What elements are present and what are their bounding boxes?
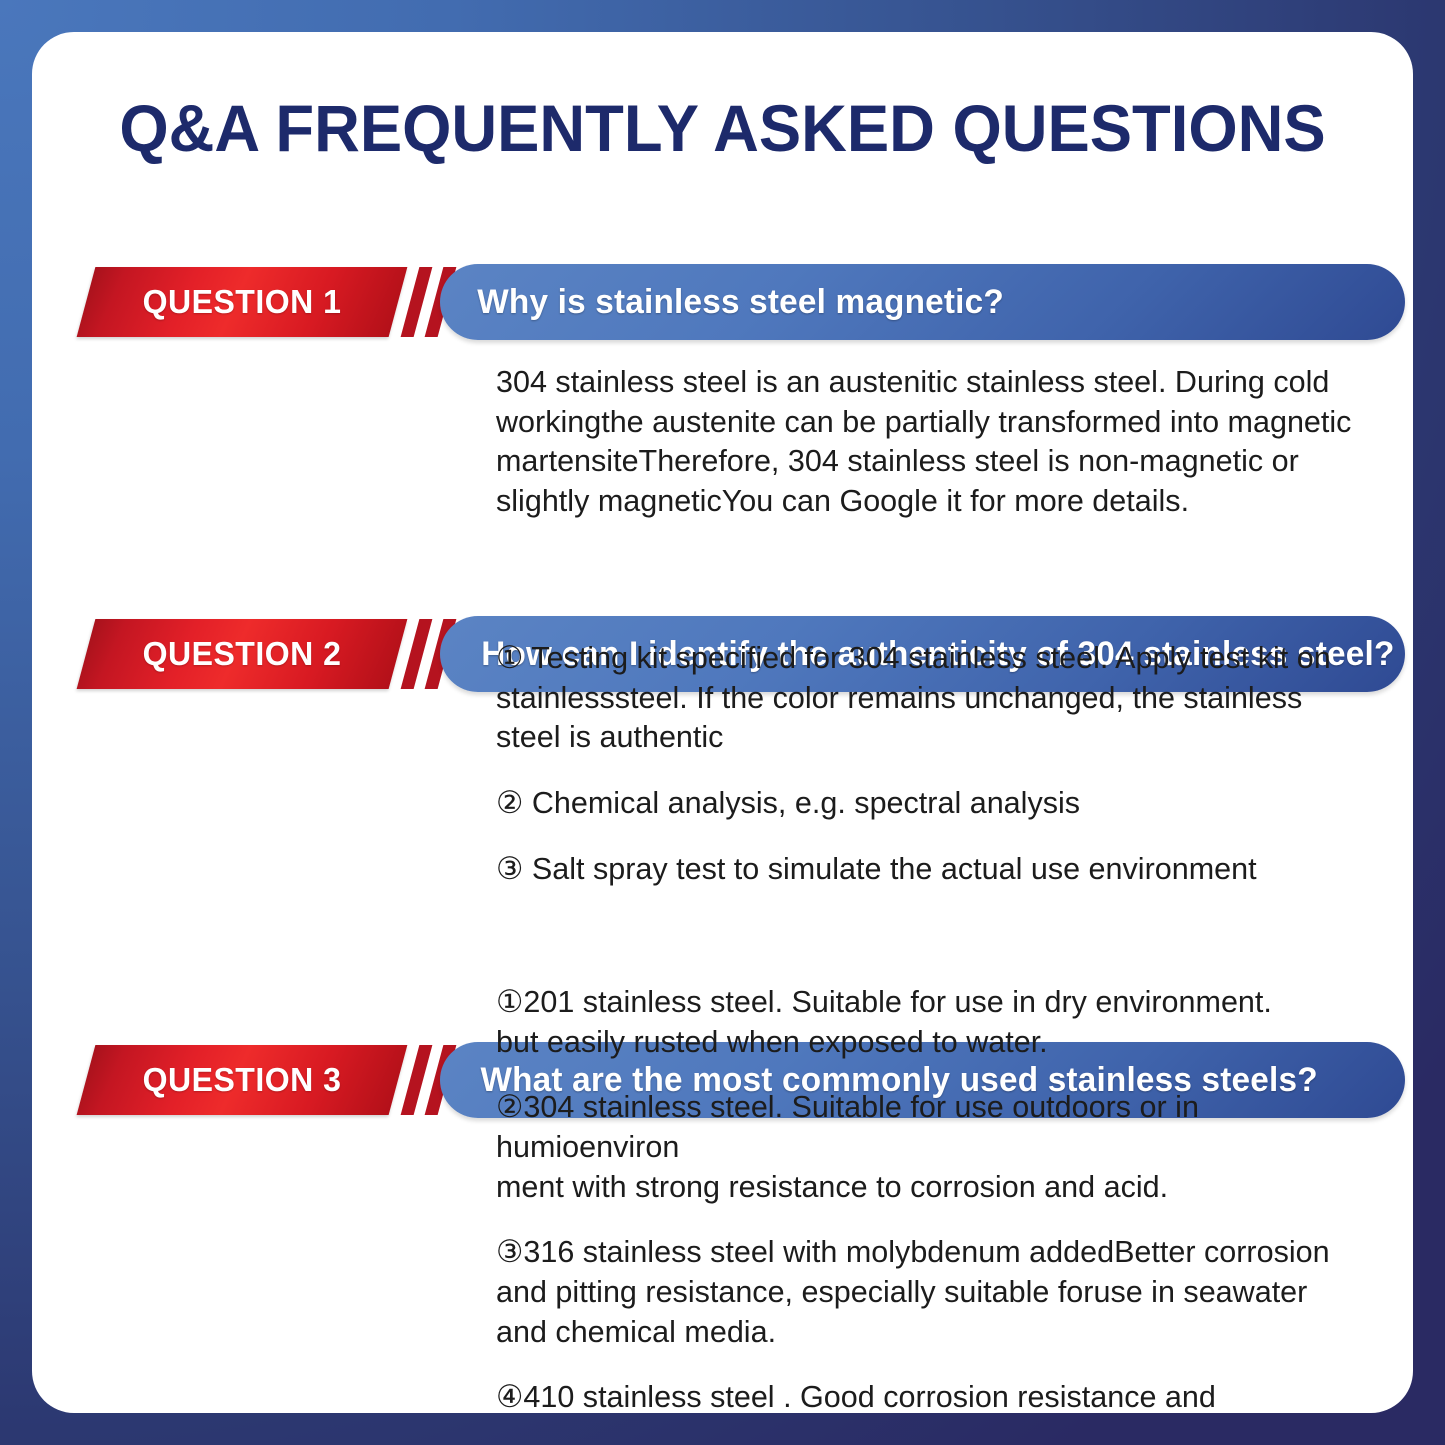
faq-card-content: Q&A FREQUENTLY ASKED QUESTIONS QUESTION … (32, 32, 1413, 1413)
answer-paragraph: ① Testing kit specified for 304 stainles… (496, 638, 1360, 757)
answer-block-3: ①201 stainless steel. Suitable for use i… (496, 982, 1360, 1413)
question-pill-1[interactable]: Why is stainless steel magnetic? (440, 264, 1405, 340)
answer-block-1: 304 stainless steel is an austenitic sta… (496, 362, 1360, 521)
faq-card: Q&A FREQUENTLY ASKED QUESTIONS QUESTION … (32, 32, 1413, 1413)
answer-paragraph: ②304 stainless steel. Suitable for use o… (496, 1087, 1360, 1206)
question-badge-2-shape (77, 619, 408, 689)
answer-paragraph: ② Chemical analysis, e.g. spectral analy… (496, 783, 1360, 823)
answer-block-2: ① Testing kit specified for 304 stainles… (496, 638, 1360, 888)
question-badge-1-shape (77, 267, 408, 337)
faq-item-1-header: QUESTION 1 Why is stainless steel magnet… (32, 264, 1413, 340)
answer-paragraph: ④410 stainless steel . Good corrosion re… (496, 1377, 1360, 1413)
question-badge-3-shape (77, 1045, 408, 1115)
question-text-1: Why is stainless steel magnetic? (446, 283, 1026, 322)
answer-paragraph: 304 stainless steel is an austenitic sta… (496, 362, 1360, 521)
page-title: Q&A FREQUENTLY ASKED QUESTIONS (60, 94, 1386, 163)
answer-paragraph: ③ Salt spray test to simulate the actual… (496, 849, 1360, 889)
answer-paragraph: ①201 stainless steel. Suitable for use i… (496, 982, 1360, 1061)
answer-paragraph: ③316 stainless steel with molybdenum add… (496, 1232, 1360, 1351)
